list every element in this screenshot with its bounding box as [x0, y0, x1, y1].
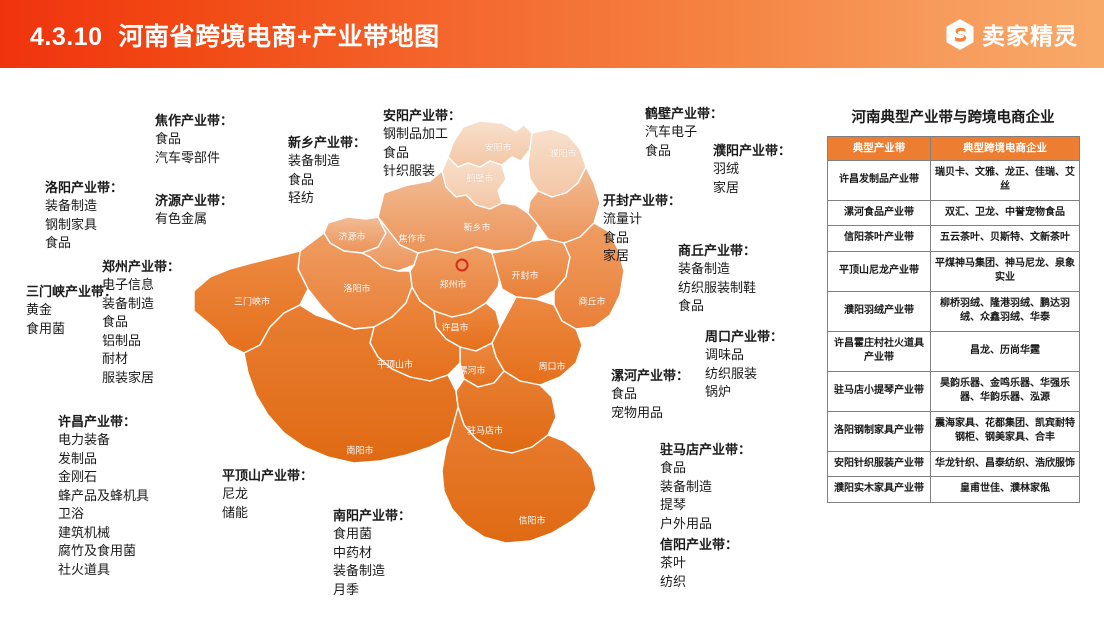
callout-item: 电力装备 — [58, 431, 149, 449]
callout-title: 信阳产业带： — [660, 536, 738, 554]
callout-item: 纺织 — [660, 573, 738, 591]
callout-item: 锅炉 — [705, 383, 783, 401]
callout-item: 装备制造 — [333, 562, 411, 580]
callout-item: 蜂产品及蜂机具 — [58, 487, 149, 505]
callout-item: 储能 — [222, 504, 313, 522]
callout-item: 流量计 — [603, 210, 681, 228]
callout-item: 家居 — [713, 179, 791, 197]
table-body: 许昌发制品产业带瑞贝卡、文雅、龙正、佳瑞、艾丝漯河食品产业带双汇、卫龙、中誉宠物… — [828, 160, 1080, 502]
table-row: 信阳茶叶产业带五云茶叶、贝斯特、文新茶叶 — [828, 226, 1080, 252]
table-row: 安阳针织服装产业带华龙针织、昌泰纺织、浩欣服饰 — [828, 451, 1080, 477]
callout-kaifeng: 开封产业带：流量计食品家居 — [603, 192, 681, 266]
cell-companies: 华龙针织、昌泰纺织、浩欣服饰 — [931, 451, 1080, 477]
callout-item: 有色金属 — [155, 210, 233, 228]
callout-zhengzhou: 郑州产业带：电子信息装备制造食品铝制品耐材服装家居 — [102, 258, 180, 387]
cell-companies: 平煤神马集团、神马尼龙、泉象实业 — [931, 251, 1080, 291]
table-row: 洛阳钢制家具产业带震海家具、花都集团、凯宾耐特钢柜、钢美家具、合丰 — [828, 411, 1080, 451]
callout-item: 中药材 — [333, 544, 411, 562]
callout-item: 汽车零部件 — [155, 149, 233, 167]
table-row: 濮阳实木家具产业带皇甫世佳、濮林家俬 — [828, 477, 1080, 503]
cell-companies: 五云茶叶、贝斯特、文新茶叶 — [931, 226, 1080, 252]
callout-item: 食品 — [660, 459, 751, 477]
callout-zhoukou: 周口产业带：调味品纺织服装锅炉 — [705, 328, 783, 402]
callout-item: 发制品 — [58, 450, 149, 468]
callout-zhumadian: 驻马店产业带：食品装备制造提琴户外用品 — [660, 441, 751, 533]
table-header-row: 典型产业带 典型跨境电商企业 — [828, 137, 1080, 161]
callout-item: 轻纺 — [288, 189, 366, 207]
column-header-belt: 典型产业带 — [828, 137, 931, 161]
callout-item: 宠物用品 — [611, 404, 689, 422]
column-header-companies: 典型跨境电商企业 — [931, 137, 1080, 161]
callout-item: 提琴 — [660, 496, 751, 514]
table-row: 许昌发制品产业带瑞贝卡、文雅、龙正、佳瑞、艾丝 — [828, 160, 1080, 200]
callout-xinxiang: 新乡产业带：装备制造食品轻纺 — [288, 134, 366, 208]
callout-title: 济源产业带： — [155, 192, 233, 210]
cell-companies: 柳桥羽绒、隆港羽绒、鹏达羽绒、众鑫羽绒、华泰 — [931, 291, 1080, 331]
brand-logo: 卖家精灵 — [945, 17, 1078, 51]
table-row: 漯河食品产业带双汇、卫龙、中誉宠物食品 — [828, 200, 1080, 226]
callout-title: 漯河产业带： — [611, 367, 689, 385]
table-row: 濮阳羽绒产业带柳桥羽绒、隆港羽绒、鹏达羽绒、众鑫羽绒、华泰 — [828, 291, 1080, 331]
callout-title: 濮阳产业带： — [713, 142, 791, 160]
section-number: 4.3.10 — [30, 23, 103, 51]
callout-item: 家居 — [603, 247, 681, 265]
cell-industry-belt: 漯河食品产业带 — [828, 200, 931, 226]
cell-industry-belt: 平顶山尼龙产业带 — [828, 251, 931, 291]
industry-belt-table: 典型产业带 典型跨境电商企业 许昌发制品产业带瑞贝卡、文雅、龙正、佳瑞、艾丝漯河… — [827, 136, 1080, 503]
callout-shangqiu: 商丘产业带：装备制造纺织服装制鞋食品 — [678, 242, 756, 316]
callout-item: 针织服装 — [383, 162, 461, 180]
callout-item: 户外用品 — [660, 515, 751, 533]
callout-item: 尼龙 — [222, 485, 313, 503]
callout-title: 新乡产业带： — [288, 134, 366, 152]
callout-title: 安阳产业带： — [383, 107, 461, 125]
title-text: 河南省跨境电商+产业带地图 — [119, 23, 440, 51]
callout-title: 郑州产业带： — [102, 258, 180, 276]
callout-item: 装备制造 — [288, 152, 366, 170]
callout-item: 纺织服装 — [705, 365, 783, 383]
callout-item: 钢制家具 — [45, 216, 123, 234]
cell-companies: 瑞贝卡、文雅、龙正、佳瑞、艾丝 — [931, 160, 1080, 200]
callout-item: 食品 — [645, 142, 723, 160]
cell-industry-belt: 信阳茶叶产业带 — [828, 226, 931, 252]
callout-title: 许昌产业带： — [58, 413, 149, 431]
callout-item: 铝制品 — [102, 332, 180, 350]
callout-title: 商丘产业带： — [678, 242, 756, 260]
callout-hebi: 鹤壁产业带：汽车电子食品 — [645, 105, 723, 160]
cell-companies: 昊韵乐器、金鸣乐器、华强乐器、华韵乐器、泓源 — [931, 371, 1080, 411]
callout-title: 鹤壁产业带： — [645, 105, 723, 123]
callout-item: 建筑机械 — [58, 524, 149, 542]
callout-luohe: 漯河产业带：食品宠物用品 — [611, 367, 689, 422]
callout-luoyang: 洛阳产业带：装备制造钢制家具食品 — [45, 179, 123, 253]
callout-item: 食品 — [45, 234, 123, 252]
callout-pingdingshan: 平顶山产业带：尼龙储能 — [222, 467, 313, 522]
callout-item: 食品 — [102, 313, 180, 331]
callout-item: 食品 — [678, 297, 756, 315]
callout-nanyang: 南阳产业带：食用菌中药材装备制造月季 — [333, 507, 411, 599]
callout-item: 食品 — [603, 229, 681, 247]
callout-item: 食用菌 — [333, 525, 411, 543]
callout-item: 月季 — [333, 581, 411, 599]
callout-anyang: 安阳产业带：钢制品加工食品针织服装 — [383, 107, 461, 181]
cell-companies: 昌龙、历尚华霆 — [931, 331, 1080, 371]
cell-industry-belt: 许昌霍庄村社火道具产业带 — [828, 331, 931, 371]
callout-item: 腐竹及食用菌 — [58, 542, 149, 560]
cell-industry-belt: 濮阳实木家具产业带 — [828, 477, 931, 503]
hexagon-s-logo-icon — [945, 18, 975, 51]
cell-industry-belt: 洛阳钢制家具产业带 — [828, 411, 931, 451]
callout-xinyang: 信阳产业带：茶叶纺织 — [660, 536, 738, 591]
callout-item: 调味品 — [705, 346, 783, 364]
callout-item: 钢制品加工 — [383, 125, 461, 143]
table-row: 平顶山尼龙产业带平煤神马集团、神马尼龙、泉象实业 — [828, 251, 1080, 291]
callout-item: 装备制造 — [678, 260, 756, 278]
page-header: 4.3.10河南省跨境电商+产业带地图 卖家精灵 — [0, 0, 1104, 68]
callout-item: 卫浴 — [58, 505, 149, 523]
callout-title: 周口产业带： — [705, 328, 783, 346]
cell-industry-belt: 驻马店小提琴产业带 — [828, 371, 931, 411]
callout-item: 羽绒 — [713, 160, 791, 178]
zhengzhou-capital-marker — [456, 259, 469, 272]
callout-item: 食品 — [383, 144, 461, 162]
page-title: 4.3.10河南省跨境电商+产业带地图 — [30, 17, 440, 53]
callout-puyang: 濮阳产业带：羽绒家居 — [713, 142, 791, 197]
callout-item: 汽车电子 — [645, 123, 723, 141]
table-row: 许昌霍庄村社火道具产业带昌龙、历尚华霆 — [828, 331, 1080, 371]
callout-item: 纺织服装制鞋 — [678, 279, 756, 297]
callout-item: 装备制造 — [660, 478, 751, 496]
callout-jiyuan: 济源产业带：有色金属 — [155, 192, 233, 229]
callout-item: 装备制造 — [102, 295, 180, 313]
callout-title: 焦作产业带： — [155, 112, 233, 130]
cell-companies: 震海家具、花都集团、凯宾耐特钢柜、钢美家具、合丰 — [931, 411, 1080, 451]
cell-companies: 皇甫世佳、濮林家俬 — [931, 477, 1080, 503]
callout-title: 开封产业带： — [603, 192, 681, 210]
callout-title: 南阳产业带： — [333, 507, 411, 525]
cell-industry-belt: 濮阳羽绒产业带 — [828, 291, 931, 331]
cell-companies: 双汇、卫龙、中誉宠物食品 — [931, 200, 1080, 226]
callout-title: 平顶山产业带： — [222, 467, 313, 485]
callout-item: 食品 — [288, 171, 366, 189]
callout-title: 驻马店产业带： — [660, 441, 751, 459]
callout-title: 洛阳产业带： — [45, 179, 123, 197]
industry-belt-table-panel: 河南典型产业带与跨境电商企业 典型产业带 典型跨境电商企业 许昌发制品产业带瑞贝… — [827, 106, 1079, 503]
callout-item: 耐材 — [102, 350, 180, 368]
callout-jiaozuo: 焦作产业带：食品汽车零部件 — [155, 112, 233, 167]
callout-item: 装备制造 — [45, 197, 123, 215]
callout-item: 电子信息 — [102, 276, 180, 294]
cell-industry-belt: 许昌发制品产业带 — [828, 160, 931, 200]
callout-item: 茶叶 — [660, 554, 738, 572]
cell-industry-belt: 安阳针织服装产业带 — [828, 451, 931, 477]
callout-item: 金刚石 — [58, 468, 149, 486]
brand-name: 卖家精灵 — [982, 17, 1078, 51]
panel-title: 河南典型产业带与跨境电商企业 — [827, 106, 1079, 127]
table-row: 驻马店小提琴产业带昊韵乐器、金鸣乐器、华强乐器、华韵乐器、泓源 — [828, 371, 1080, 411]
callout-item: 社火道具 — [58, 561, 149, 579]
callout-item: 服装家居 — [102, 369, 180, 387]
callout-item: 食品 — [155, 130, 233, 148]
callout-item: 食品 — [611, 385, 689, 403]
callout-xuchang: 许昌产业带：电力装备发制品金刚石蜂产品及蜂机具卫浴建筑机械腐竹及食用菌社火道具 — [58, 413, 149, 579]
